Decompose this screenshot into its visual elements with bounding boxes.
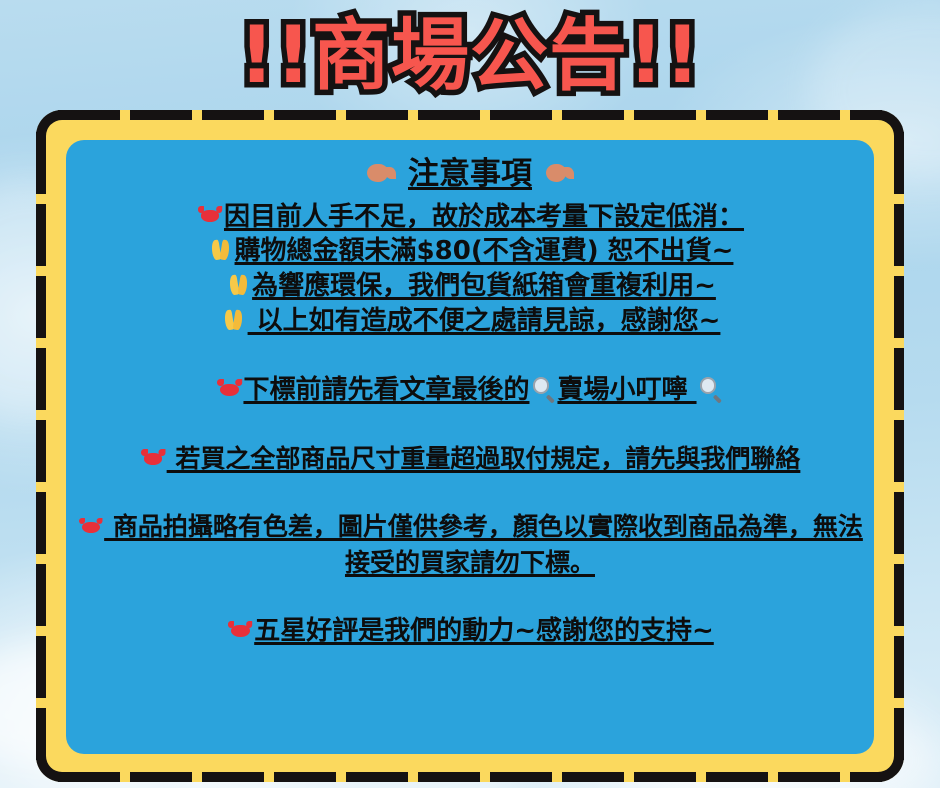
notice-line-text: 為響應環保，我們包貨紙箱會重複利用~ bbox=[252, 271, 716, 301]
notice-line-text: 因目前人手不足，故於成本考量下設定低消： bbox=[224, 202, 744, 232]
rating-line: 五星好評是我們的動力~感謝您的支持~ bbox=[66, 614, 874, 649]
color-disclaimer-text: 商品拍攝略有色差，圖片僅供參考，顏色以實際收到商品為準，無法接受的買家請勿下標。 bbox=[104, 512, 863, 577]
frame-corner-tl bbox=[36, 110, 70, 144]
pray-icon bbox=[221, 307, 247, 333]
spacer bbox=[66, 339, 874, 373]
rating-line-text: 五星好評是我們的動力~感謝您的支持~ bbox=[254, 616, 714, 646]
spacer bbox=[66, 475, 874, 509]
notice-line-text: 購物總金額未滿$80(不含運費) 恕不出貨~ bbox=[235, 236, 734, 266]
crab-icon bbox=[197, 203, 223, 229]
spacer bbox=[66, 408, 874, 442]
notice-line: 因目前人手不足，故於成本考量下設定低消： bbox=[66, 200, 874, 235]
pray-icon bbox=[208, 237, 234, 263]
notice-line: 以上如有造成不便之處請見諒，感謝您~ bbox=[66, 304, 874, 339]
spacer bbox=[66, 580, 874, 614]
announcement-poster: !!商場公告!! 注意事項 因目前人手不足，故於 bbox=[0, 0, 940, 788]
magnifier-icon bbox=[698, 376, 724, 402]
tip-line-text-after: 賣場小叮嚀 bbox=[557, 375, 696, 405]
announcement-panel: 注意事項 因目前人手不足，故於成本考量下設定低消： 購物總金額未滿$80(不含運… bbox=[66, 140, 874, 754]
poster-title-text: !!商場公告!! bbox=[239, 14, 701, 98]
frame-dash-top bbox=[58, 110, 882, 120]
crab-icon bbox=[78, 514, 103, 539]
magnifier-icon bbox=[530, 376, 556, 402]
blowfish-icon bbox=[544, 157, 575, 188]
pray-icon bbox=[225, 272, 251, 298]
notice-line-text: 以上如有造成不便之處請見諒，感謝您~ bbox=[248, 306, 721, 336]
crab-icon bbox=[216, 376, 242, 402]
tip-line-text-before: 下標前請先看文章最後的 bbox=[243, 375, 529, 405]
blowfish-icon bbox=[365, 157, 396, 188]
tip-line: 下標前請先看文章最後的賣場小叮嚀 bbox=[66, 373, 874, 408]
notice-line: 為響應環保，我們包貨紙箱會重複利用~ bbox=[66, 269, 874, 304]
size-line-text: 若買之全部商品尺寸重量超過取付規定，請先與我們聯絡 bbox=[167, 444, 801, 473]
frame-dash-left bbox=[36, 132, 46, 760]
panel-heading-text: 注意事項 bbox=[408, 156, 532, 192]
panel-heading: 注意事項 bbox=[66, 154, 874, 196]
size-line: 若買之全部商品尺寸重量超過取付規定，請先與我們聯絡 bbox=[66, 442, 874, 476]
frame-corner-bl bbox=[36, 748, 70, 782]
notice-line: 購物總金額未滿$80(不含運費) 恕不出貨~ bbox=[66, 234, 874, 269]
color-disclaimer: 商品拍攝略有色差，圖片僅供參考，顏色以實際收到商品為準，無法接受的買家請勿下標。 bbox=[66, 509, 874, 580]
crab-icon bbox=[141, 446, 166, 471]
frame-dash-right bbox=[894, 132, 904, 760]
frame-corner-tr bbox=[870, 110, 904, 144]
poster-title: !!商場公告!! bbox=[0, 14, 940, 98]
frame-dash-bottom bbox=[58, 772, 882, 782]
frame-corner-br bbox=[870, 748, 904, 782]
crab-icon bbox=[227, 617, 253, 643]
announcement-content: 注意事項 因目前人手不足，故於成本考量下設定低消： 購物總金額未滿$80(不含運… bbox=[66, 148, 874, 649]
